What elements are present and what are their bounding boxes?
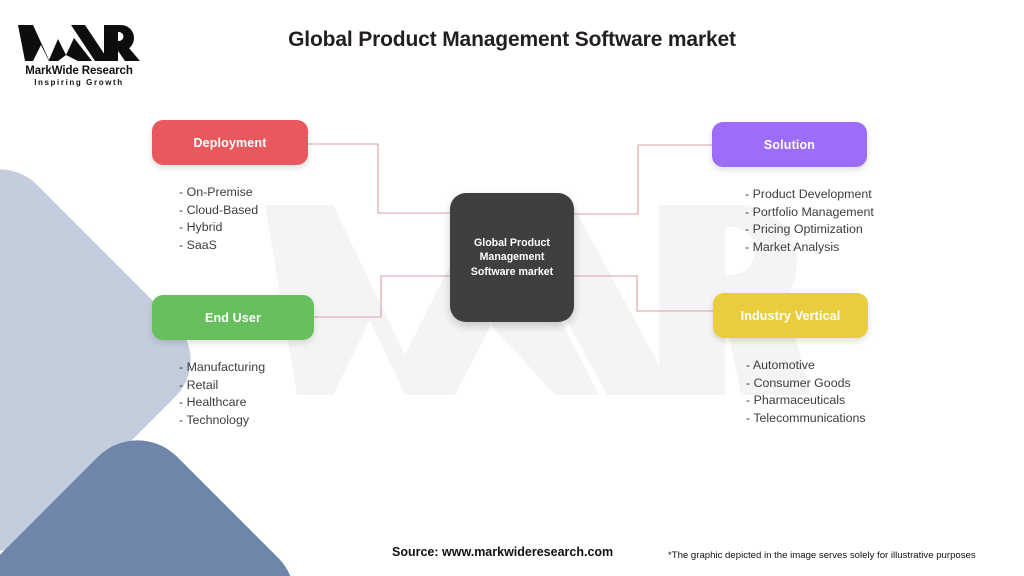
list-item: - Portfolio Management (745, 204, 867, 222)
page-title: Global Product Management Software marke… (0, 28, 1024, 52)
page-title-text: Global Product Management Software marke… (288, 28, 736, 52)
center-node-line-2: Management (480, 251, 545, 263)
center-node-line-3: Software market (471, 266, 553, 278)
list-item: - Technology (179, 412, 314, 430)
branch-deployment-header[interactable]: Deployment (152, 120, 308, 165)
list-item: - Cloud-Based (179, 202, 308, 220)
source-label: Source: www.markwideresearch.com (392, 545, 613, 559)
branch-end-user[interactable]: End User - Manufacturing - Retail - Heal… (152, 295, 314, 445)
connector-deployment-to-center (308, 144, 450, 213)
center-node-label: Global Product Management Software marke… (471, 236, 553, 280)
branch-industry-vertical-items: - Automotive - Consumer Goods - Pharmace… (713, 357, 868, 427)
connector-center-to-industry (573, 276, 713, 311)
center-node[interactable]: Global Product Management Software marke… (450, 193, 574, 322)
branch-solution-title: Solution (764, 138, 815, 152)
list-item: - SaaS (179, 237, 308, 255)
disclaimer-text: *The graphic depicted in the image serve… (668, 550, 976, 561)
list-item: - Retail (179, 377, 314, 395)
center-node-line-1: Global Product (474, 237, 550, 249)
list-item: - Manufacturing (179, 359, 314, 377)
branch-deployment-title: Deployment (193, 136, 266, 150)
list-item: - Consumer Goods (746, 375, 868, 393)
infographic-canvas: MarkWide Research Inspiring Growth Globa… (0, 0, 1024, 576)
branch-deployment-items: - On-Premise - Cloud-Based - Hybrid - Sa… (152, 184, 308, 254)
list-item: - Product Development (745, 186, 867, 204)
connector-center-to-solution (573, 145, 712, 214)
branch-industry-vertical-header[interactable]: Industry Vertical (713, 293, 868, 338)
list-item: - Hybrid (179, 219, 308, 237)
branch-end-user-items: - Manufacturing - Retail - Healthcare - … (152, 359, 314, 429)
list-item: - Market Analysis (745, 239, 867, 257)
logo-tagline: Inspiring Growth (16, 78, 142, 87)
list-item: - Automotive (746, 357, 868, 375)
branch-industry-vertical[interactable]: Industry Vertical - Automotive - Consume… (713, 293, 868, 443)
list-item: - Pricing Optimization (745, 221, 867, 239)
connector-enduser-to-center (314, 276, 450, 317)
list-item: - Telecommunications (746, 410, 868, 428)
branch-solution-header[interactable]: Solution (712, 122, 867, 167)
branch-end-user-title: End User (205, 311, 261, 325)
branch-solution[interactable]: Solution - Product Development - Portfol… (712, 122, 867, 272)
list-item: - Healthcare (179, 394, 314, 412)
branch-industry-vertical-title: Industry Vertical (741, 309, 841, 323)
branch-deployment[interactable]: Deployment - On-Premise - Cloud-Based - … (152, 120, 308, 270)
logo-company-name: MarkWide Research (16, 65, 142, 77)
list-item: - Pharmaceuticals (746, 392, 868, 410)
branch-solution-items: - Product Development - Portfolio Manage… (712, 186, 867, 256)
branch-end-user-header[interactable]: End User (152, 295, 314, 340)
list-item: - On-Premise (179, 184, 308, 202)
